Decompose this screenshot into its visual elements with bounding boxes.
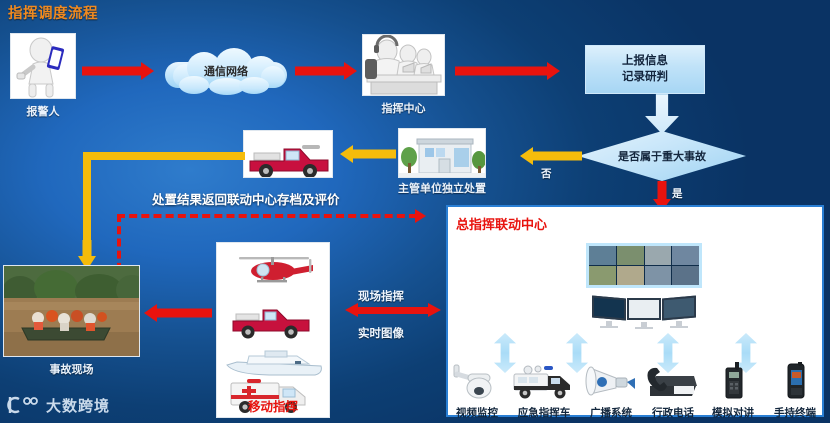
ptz-camera-icon — [448, 362, 506, 400]
three-monitors-icon — [592, 296, 696, 328]
flood-rescue-boat-photo — [4, 266, 140, 357]
watermark-text: 大数跨境 — [46, 395, 110, 416]
device-label-6: 手持终端 — [766, 405, 824, 420]
feedback-label: 处置结果返回联动中心存档及评价 — [152, 189, 340, 208]
decision-yes-label: 是 — [672, 186, 683, 201]
decision-label: 是否属于重大事故 — [578, 131, 746, 181]
device-admin-phone: 行政电话 — [644, 362, 702, 420]
video-wall-icon — [586, 243, 702, 288]
handheld-terminal-icon — [766, 362, 824, 400]
device-handheld-terminal: 手持终端 — [766, 362, 824, 420]
loudspeaker-icon — [582, 362, 640, 400]
arrow-mobile-to-scene — [144, 304, 212, 322]
page-title: 指挥调度流程 — [8, 2, 98, 23]
mobile-command-panel — [216, 242, 330, 418]
operators-at-desk-icon — [363, 35, 445, 96]
office-building-icon — [399, 129, 486, 178]
arrow-command-center-to-report — [455, 62, 560, 80]
fire-truck-image — [243, 130, 333, 178]
command-center-label: 指挥中心 — [362, 100, 445, 116]
communication-network-cloud: 通信网络 — [165, 48, 287, 95]
report-box: 上报信息 记录研判 — [585, 45, 705, 94]
accident-scene-image — [3, 265, 140, 357]
report-box-line2: 记录研判 — [622, 70, 668, 86]
device-analog-intercom: 模拟对讲 — [704, 362, 762, 420]
bidirectional-arrow — [345, 303, 441, 317]
command-center-image — [362, 34, 445, 96]
device-command-vehicle: 应急指挥车 — [508, 362, 580, 420]
decision-no-label: 否 — [541, 166, 552, 181]
decision-diamond: 是否属于重大事故 — [578, 131, 746, 181]
onsite-command-label: 现场指挥 — [358, 288, 404, 304]
arrow-decision-no — [520, 147, 582, 165]
brand-logo-icon — [6, 394, 40, 416]
yellow-path-horizontal — [83, 152, 245, 160]
network-label: 通信网络 — [165, 63, 287, 79]
panel-title: 总指挥联动中心 — [456, 214, 547, 233]
independent-unit-label: 主管单位独立处置 — [378, 180, 506, 196]
mobile-command-label: 移动指挥 — [216, 396, 330, 415]
device-label-3: 广播系统 — [582, 405, 640, 420]
independent-unit-image — [398, 128, 486, 178]
device-broadcast-system: 广播系统 — [582, 362, 640, 420]
arrow-unit-to-firetruck — [340, 145, 396, 163]
caller-image — [10, 33, 76, 99]
feedback-dash-horizontal — [117, 214, 417, 218]
arrow-report-to-decision — [645, 94, 679, 134]
realtime-image-label: 实时图像 — [358, 325, 404, 341]
device-label-2: 应急指挥车 — [508, 405, 580, 420]
arrow-network-to-command-center — [295, 62, 357, 80]
watermark: 大数跨境 — [6, 394, 110, 416]
feedback-arrow-head — [415, 209, 426, 223]
accident-scene-label: 事故现场 — [3, 361, 140, 377]
device-label-4: 行政电话 — [644, 405, 702, 420]
desk-phone-icon — [644, 362, 702, 400]
report-box-line1: 上报信息 — [622, 54, 668, 70]
slide-canvas: 指挥调度流程 报警人 通信网络 — [0, 0, 830, 423]
device-video-surveillance: 视频监控 — [448, 362, 506, 420]
caller-label: 报警人 — [10, 103, 76, 119]
fire-truck-icon — [244, 131, 333, 178]
device-label-5: 模拟对讲 — [704, 405, 762, 420]
person-with-phone-icon — [11, 34, 76, 99]
device-label-1: 视频监控 — [448, 405, 506, 420]
arrow-caller-to-network — [82, 62, 154, 80]
walkie-talkie-icon — [704, 362, 762, 400]
mobile-command-vehicles-icon — [217, 243, 330, 418]
command-vehicle-icon — [508, 362, 580, 400]
